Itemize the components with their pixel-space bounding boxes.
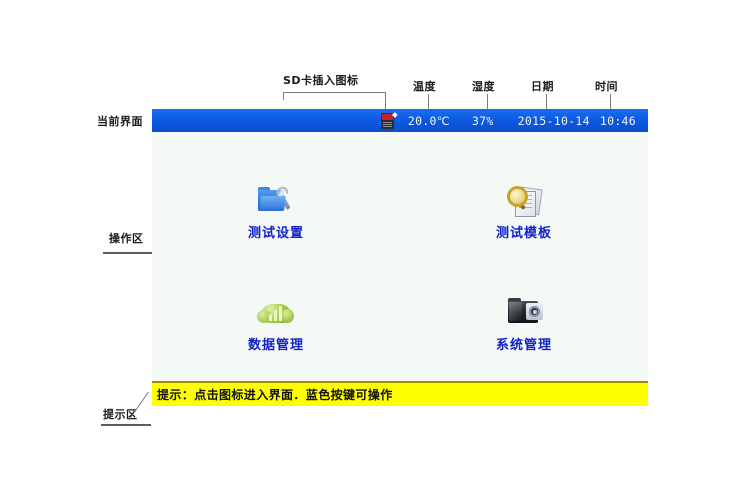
annotation-time-leader bbox=[610, 94, 611, 109]
annotation-humidity: 湿度 bbox=[472, 78, 495, 94]
menu-label-data-management: 数据管理 bbox=[248, 334, 304, 353]
hint-bar: 提示：点击图标进入界面．蓝色按键可操作 bbox=[152, 381, 648, 406]
sd-card-icon bbox=[381, 113, 394, 129]
menu-item-data-management[interactable]: 数据管理 bbox=[201, 296, 351, 353]
annotation-date-leader bbox=[546, 94, 547, 109]
humidity-value: 37% bbox=[472, 114, 494, 128]
sd-card-notch bbox=[392, 112, 398, 118]
device-screen: 20.0℃ 37% 2015-10-14 10:46 测试设置 bbox=[152, 109, 648, 406]
annotation-sd-leader-h bbox=[283, 92, 386, 93]
menu-item-test-settings[interactable]: 测试设置 bbox=[201, 184, 351, 241]
magnifier-documents-icon bbox=[504, 184, 544, 218]
annotation-sd-leader-left bbox=[283, 92, 284, 100]
icon-grid: 测试设置 测试模板 数据管理 bbox=[152, 132, 648, 381]
sd-card-contacts bbox=[383, 122, 392, 127]
annotation-date: 日期 bbox=[531, 78, 554, 94]
folder-gear-icon bbox=[504, 296, 544, 330]
annotation-temperature-leader bbox=[428, 94, 429, 109]
green-data-cloud-icon bbox=[256, 296, 296, 330]
status-bar: 20.0℃ 37% 2015-10-14 10:46 bbox=[152, 109, 648, 132]
annotation-hint-underline bbox=[101, 424, 151, 426]
menu-item-test-template[interactable]: 测试模板 bbox=[449, 184, 599, 241]
annotation-humidity-leader bbox=[487, 94, 488, 109]
diagram-stage: 当前界面 操作区 提示区 SD卡插入图标 温度 湿度 日期 时间 20.0℃ 3… bbox=[0, 0, 750, 500]
annotation-sd-icon: SD卡插入图标 bbox=[283, 72, 359, 88]
date-value: 2015-10-14 bbox=[518, 114, 590, 128]
menu-item-system-management[interactable]: 系统管理 bbox=[449, 296, 599, 353]
annotation-current-interface: 当前界面 bbox=[97, 113, 143, 129]
temperature-value: 20.0℃ bbox=[408, 114, 450, 128]
hint-text: 提示：点击图标进入界面．蓝色按键可操作 bbox=[152, 386, 393, 403]
menu-label-test-template: 测试模板 bbox=[496, 222, 552, 241]
menu-label-system-management: 系统管理 bbox=[496, 334, 552, 353]
operation-area: 测试设置 测试模板 数据管理 bbox=[152, 132, 648, 381]
annotation-sd-leader-down bbox=[385, 92, 386, 109]
menu-label-test-settings: 测试设置 bbox=[248, 222, 304, 241]
annotation-temperature: 温度 bbox=[413, 78, 436, 94]
annotation-time: 时间 bbox=[595, 78, 618, 94]
folder-tools-icon bbox=[256, 184, 296, 218]
annotation-operation-area: 操作区 bbox=[109, 230, 144, 246]
time-value: 10:46 bbox=[600, 114, 636, 128]
